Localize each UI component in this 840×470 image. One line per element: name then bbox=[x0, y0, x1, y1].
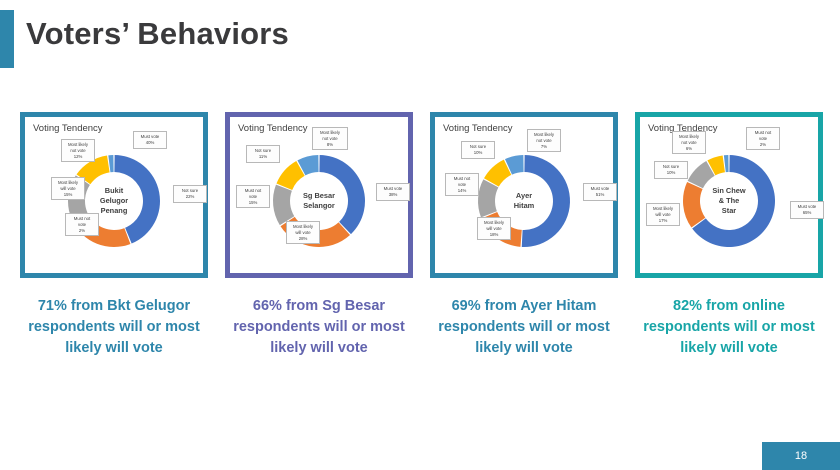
chart-card-inner: Voting Tendency Sg Besar SelangorMust vo… bbox=[230, 117, 408, 273]
donut-data-label: Not sure 10% bbox=[654, 161, 688, 179]
caption-row: 71% from Bkt Gelugor respondents will or… bbox=[0, 296, 840, 366]
caption-bukit-gelugor: 71% from Bkt Gelugor respondents will or… bbox=[16, 296, 212, 359]
donut-data-label: Not sure 10% bbox=[461, 141, 495, 159]
donut-center-label: Ayer Hitam bbox=[495, 191, 553, 211]
donut-chart-3: Sin Chew & The StarMust vote 65%Most lik… bbox=[640, 117, 818, 273]
donut-data-label: Must vote 51% bbox=[583, 183, 617, 201]
chart-card-sin-chew-the-star[interactable]: Voting Tendency Sin Chew & The StarMust … bbox=[635, 112, 823, 278]
donut-data-label: Must not vote 2% bbox=[746, 127, 780, 150]
chart-card-ayer-hitam[interactable]: Voting Tendency Ayer HitamMust vote 51%M… bbox=[430, 112, 618, 278]
slide-title-bar: Voters’ Behaviors bbox=[0, 10, 840, 68]
donut-data-label: Must not vote 2% bbox=[65, 213, 99, 236]
donut-chart-2: Ayer HitamMust vote 51%Most likely will … bbox=[435, 117, 613, 273]
donut-data-label: Must vote 40% bbox=[133, 131, 167, 149]
chart-card-inner: Voting Tendency Sin Chew & The StarMust … bbox=[640, 117, 818, 273]
donut-center-label: Sg Besar Selangor bbox=[290, 191, 348, 211]
donut-data-label: Most likely will vote 28% bbox=[286, 221, 320, 244]
donut-chart-0: Bukit Gelugor PenangMust vote 40%Not sur… bbox=[25, 117, 203, 273]
donut-data-label: Not sure 22% bbox=[173, 185, 207, 203]
caption-ayer-hitam: 69% from Ayer Hitam respondents will or … bbox=[426, 296, 622, 359]
chart-card-sg-besar[interactable]: Voting Tendency Sg Besar SelangorMust vo… bbox=[225, 112, 413, 278]
caption-online: 82% from online respondents will or most… bbox=[631, 296, 827, 359]
title-accent-bar bbox=[0, 10, 14, 68]
donut-data-label: Most likely will vote 15% bbox=[51, 177, 85, 200]
donut-chart-1: Sg Besar SelangorMust vote 38%Most likel… bbox=[230, 117, 408, 273]
donut-data-label: Most likely will vote 17% bbox=[646, 203, 680, 226]
donut-data-label: Not sure 11% bbox=[246, 145, 280, 163]
donut-center-label: Sin Chew & The Star bbox=[700, 186, 758, 216]
page-title: Voters’ Behaviors bbox=[26, 16, 289, 52]
donut-data-label: Most likely not vote 6% bbox=[672, 131, 706, 154]
chart-card-inner: Voting Tendency Ayer HitamMust vote 51%M… bbox=[435, 117, 613, 273]
donut-center-label: Bukit Gelugor Penang bbox=[85, 186, 143, 216]
donut-data-label: Must not vote 15% bbox=[236, 185, 270, 208]
donut-data-label: Most likely will vote 18% bbox=[477, 217, 511, 240]
donut-data-label: Most likely not vote 8% bbox=[312, 127, 348, 150]
donut-data-label: Must vote 38% bbox=[376, 183, 410, 201]
donut-data-label: Most likely not vote 7% bbox=[527, 129, 561, 152]
chart-card-bukit-gelugor[interactable]: Voting Tendency Bukit Gelugor PenangMust… bbox=[20, 112, 208, 278]
chart-card-row: Voting Tendency Bukit Gelugor PenangMust… bbox=[0, 112, 840, 280]
donut-data-label: Most likely not vote 12% bbox=[61, 139, 95, 162]
donut-data-label: Must not vote 14% bbox=[445, 173, 479, 196]
donut-data-label: Must vote 65% bbox=[790, 201, 824, 219]
page-number: 18 bbox=[762, 442, 840, 470]
caption-sg-besar: 66% from Sg Besar respondents will or mo… bbox=[221, 296, 417, 359]
chart-card-inner: Voting Tendency Bukit Gelugor PenangMust… bbox=[25, 117, 203, 273]
